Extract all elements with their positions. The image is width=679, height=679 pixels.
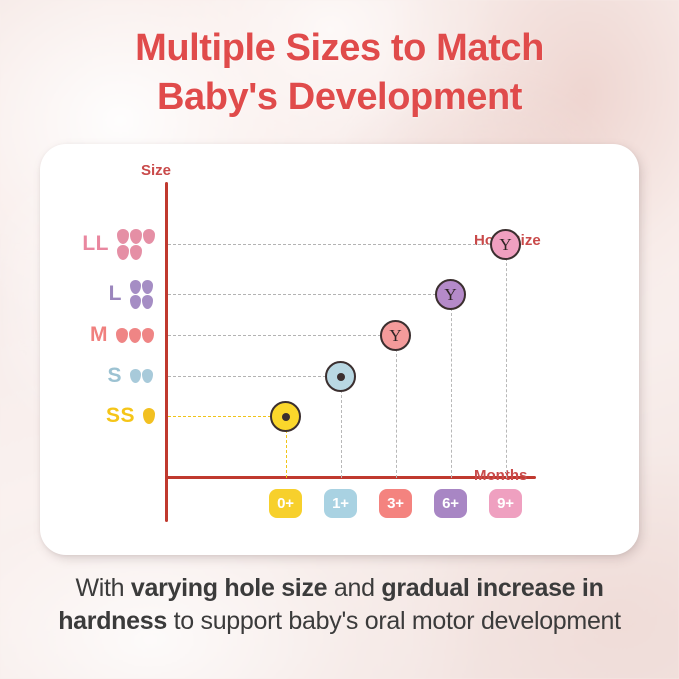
caption-line-2: hardness to support baby's oral motor de… (28, 605, 651, 638)
caption-text: and (327, 574, 381, 602)
month-badge-3plus[interactable]: 3+ (379, 489, 412, 518)
y-cut-icon: Y (444, 286, 456, 303)
caption-emphasis: gradual increase in (381, 574, 603, 602)
droplet-icon (117, 229, 129, 244)
y-cut-icon: Y (499, 236, 511, 253)
droplet-icon (142, 295, 153, 309)
y-axis-row-label: S (107, 364, 122, 388)
x-axis-label: Months (474, 467, 527, 484)
droplet-icon (130, 229, 142, 244)
page-title-line-1: Multiple Sizes to Match (0, 24, 679, 73)
caption: With varying hole size and gradual incre… (28, 572, 651, 639)
caption-emphasis: varying hole size (131, 574, 327, 602)
chart-card: Size Hole Size Months LL L (40, 144, 639, 555)
droplet-icon (143, 229, 155, 244)
y-axis-row-label: M (90, 323, 108, 347)
y-axis-line (165, 182, 168, 522)
y-axis-label: Size (141, 162, 171, 179)
droplet-group-ss (143, 408, 157, 424)
caption-text: With (75, 574, 130, 602)
droplet-icon (130, 280, 141, 294)
caption-text: to support baby's oral motor development (167, 607, 621, 635)
y-axis-row-label: L (109, 282, 122, 306)
gridline-ll (168, 244, 506, 245)
y-cut-icon: Y (389, 327, 401, 344)
droplet-icon (116, 328, 128, 343)
vgridline-9plus (506, 258, 507, 478)
gridline-s (168, 376, 341, 377)
y-axis-row-ss: SS (40, 401, 165, 431)
droplet-icon (130, 369, 141, 383)
month-badge-6plus[interactable]: 6+ (434, 489, 467, 518)
y-axis-row-m: M (40, 320, 165, 350)
droplet-icon (129, 328, 141, 343)
data-point-3plus[interactable]: Y (380, 320, 411, 351)
vgridline-0plus (286, 430, 287, 478)
data-point-1plus[interactable] (325, 361, 356, 392)
data-point-9plus[interactable]: Y (490, 229, 521, 260)
vgridline-1plus (341, 390, 342, 478)
gridline-ss (168, 416, 286, 417)
data-point-0plus[interactable] (270, 401, 301, 432)
vgridline-3plus (396, 349, 397, 478)
month-badge-9plus[interactable]: 9+ (489, 489, 522, 518)
nipple-hole-icon (337, 373, 345, 381)
y-axis-row-ll: LL (40, 229, 165, 259)
droplet-group-l (130, 280, 157, 309)
droplet-icon (142, 280, 153, 294)
droplet-icon (143, 408, 155, 424)
y-axis-row-s: S (40, 361, 165, 391)
caption-emphasis: hardness (58, 607, 167, 635)
y-axis-row-label: LL (82, 232, 109, 256)
nipple-hole-icon (282, 413, 290, 421)
data-point-6plus[interactable]: Y (435, 279, 466, 310)
gridline-m (168, 335, 396, 336)
y-axis-row-label: SS (106, 404, 135, 428)
droplet-icon (142, 328, 154, 343)
page-title: Multiple Sizes to Match Baby's Developme… (0, 24, 679, 121)
droplet-icon (130, 245, 142, 260)
month-badge-1plus[interactable]: 1+ (324, 489, 357, 518)
caption-line-1: With varying hole size and gradual incre… (28, 572, 651, 605)
droplet-group-m (116, 328, 157, 343)
droplet-group-s (130, 369, 157, 383)
y-axis-row-l: L (40, 279, 165, 309)
vgridline-6plus (451, 308, 452, 478)
page-title-line-2: Baby's Development (0, 73, 679, 122)
droplet-group-ll (117, 229, 157, 260)
droplet-icon (142, 369, 153, 383)
droplet-icon (117, 245, 129, 260)
month-badge-0plus[interactable]: 0+ (269, 489, 302, 518)
droplet-icon (130, 295, 141, 309)
gridline-l (168, 294, 451, 295)
chart-plot-area: Size Hole Size Months LL L (40, 144, 639, 555)
